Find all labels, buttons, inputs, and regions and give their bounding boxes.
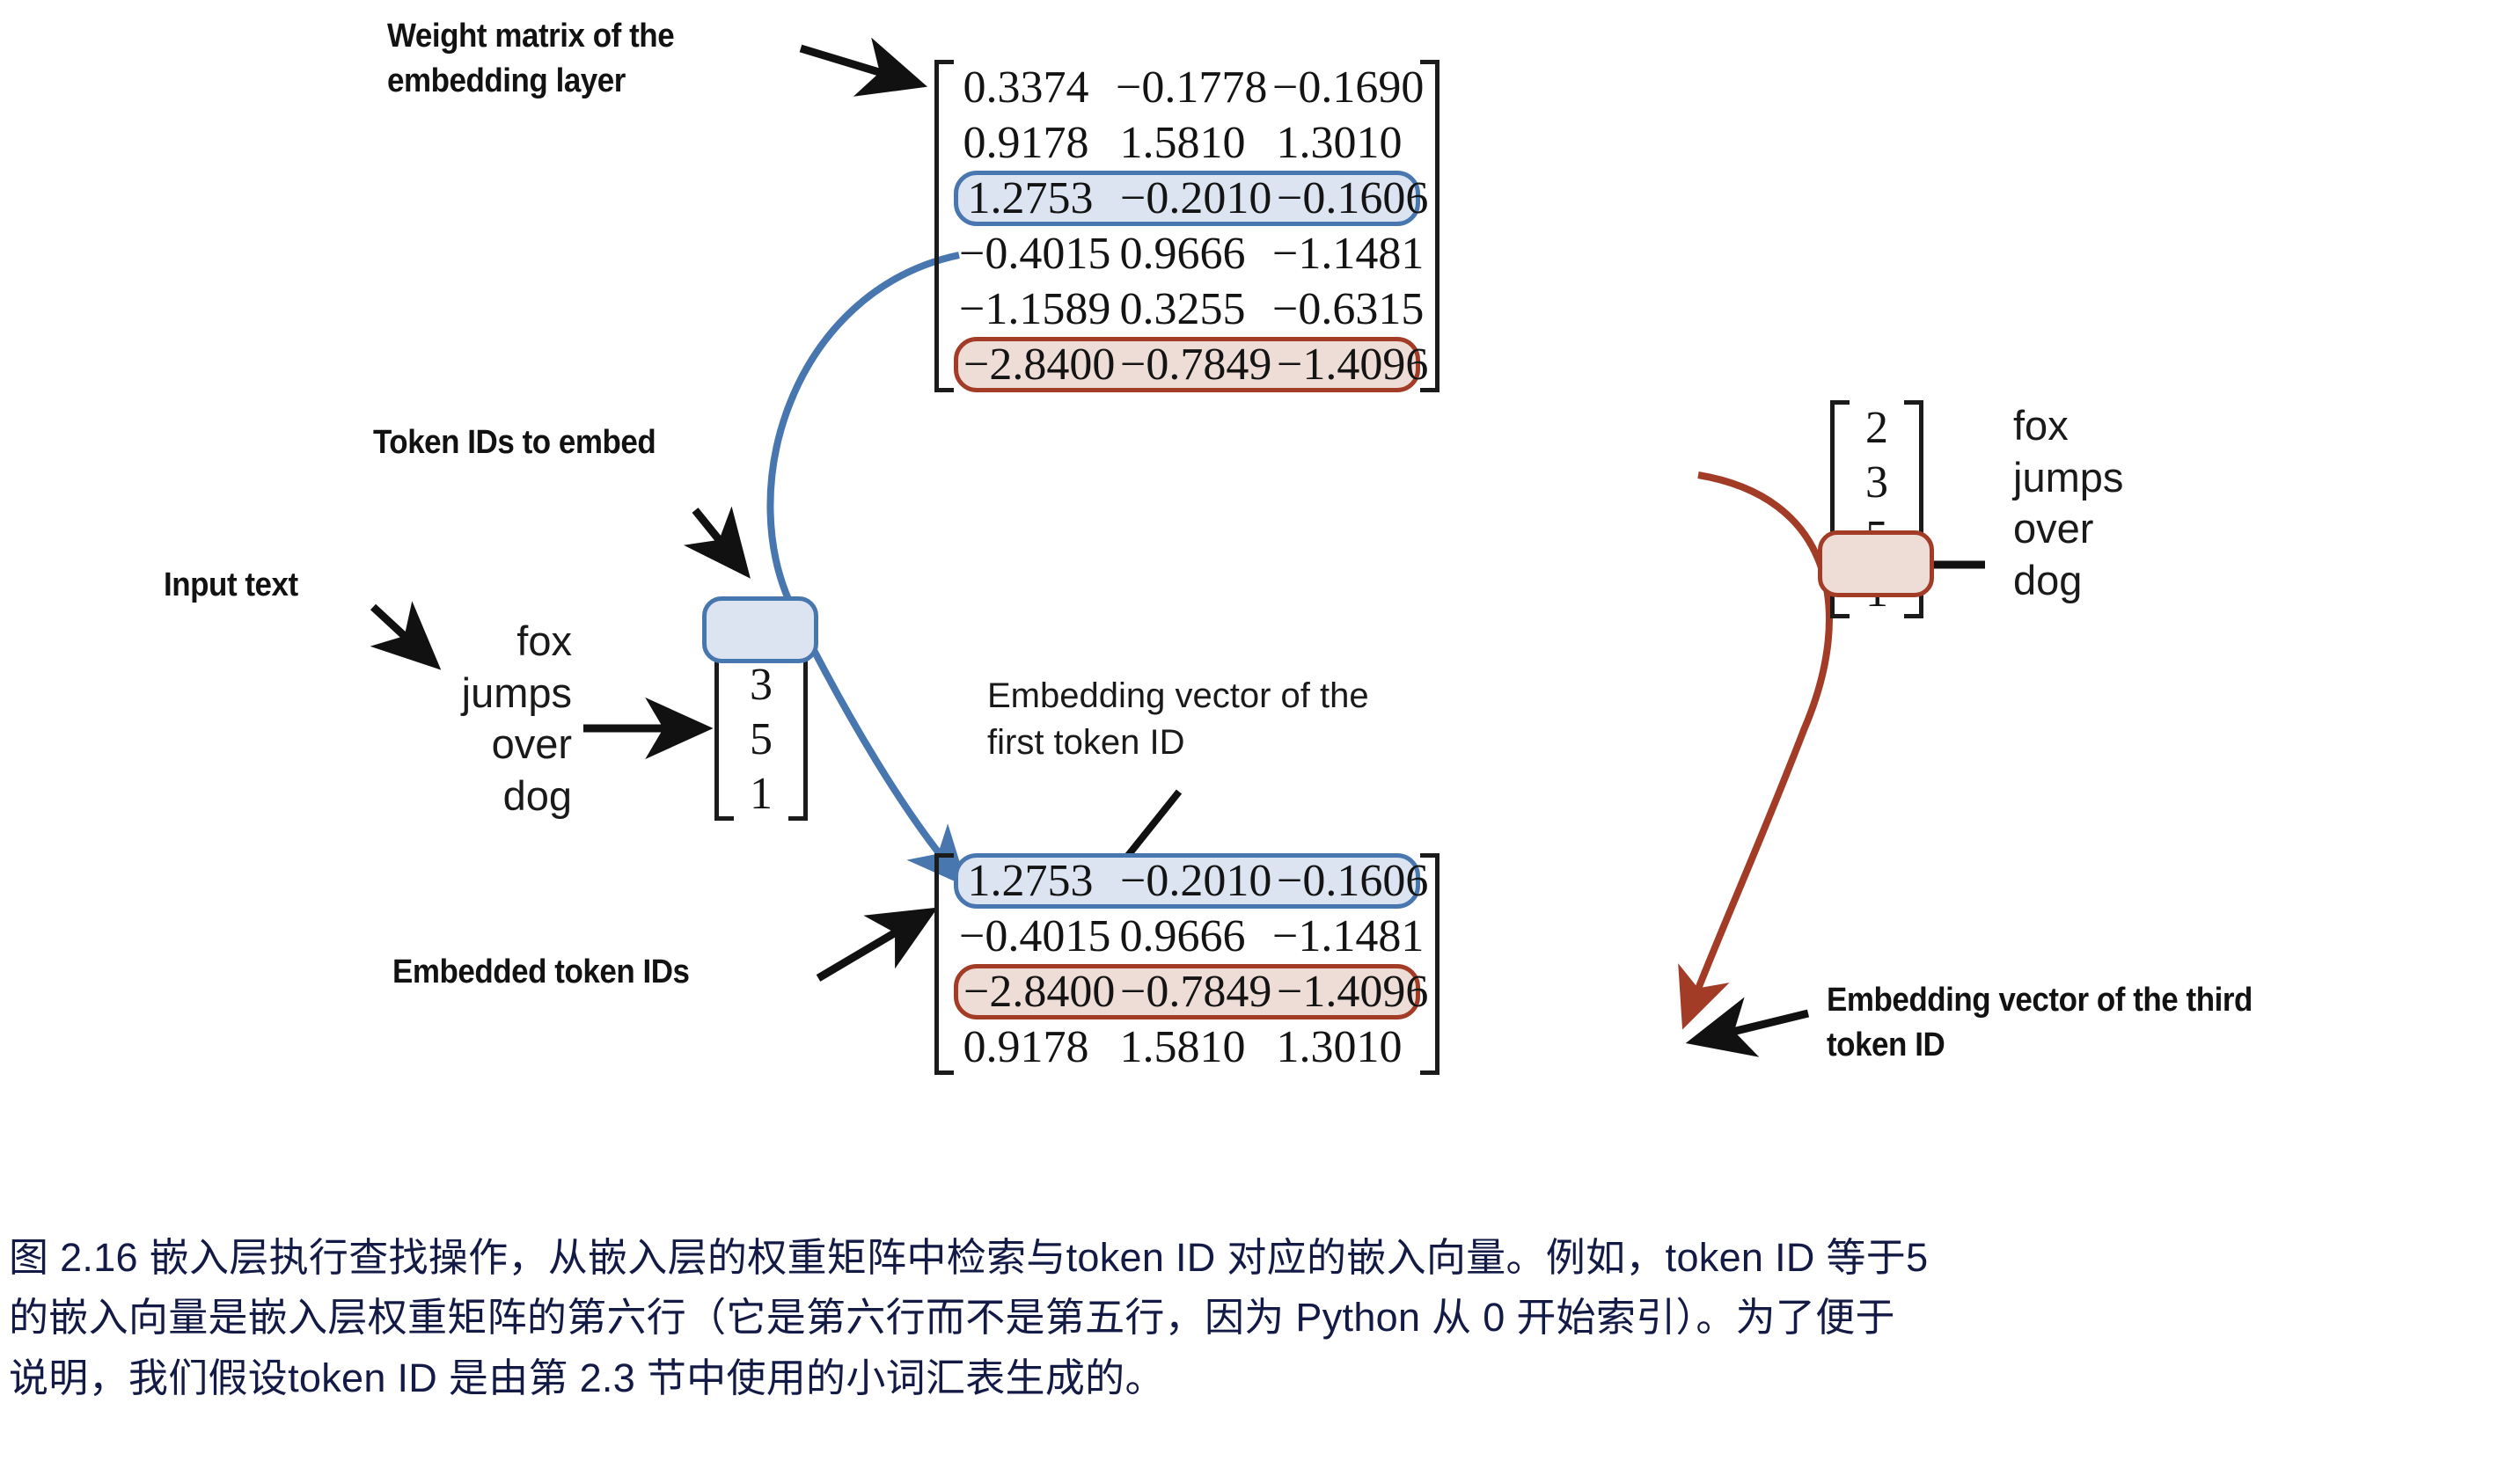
token-id-row: 5	[1850, 509, 1904, 564]
token-id-row: 2	[734, 603, 788, 657]
right-word: dog	[2013, 555, 2312, 607]
embedded-token-ids-matrix: 1.2753 −0.2010 −0.1606 −0.4015 0.9666 −1…	[934, 853, 1439, 1075]
caption-line-1: 图 2.16 嵌入层执行查找操作，从嵌入层的权重矩阵中检索与token ID 对…	[9, 1228, 2512, 1288]
token-id-row: 1	[1850, 564, 1904, 618]
right-words-column: fox jumps over dog	[2013, 400, 2312, 607]
input-word: dog	[290, 771, 572, 822]
matrix-row-highlighted-blue: 1.2753 −0.2010 −0.1606	[954, 171, 1420, 226]
weight-matrix: 0.3374 −0.1778 −0.1690 0.9178 1.5810 1.3…	[934, 60, 1439, 392]
caption-line-2: 的嵌入向量是嵌入层权重矩阵的第六行（它是第六行而不是第五行，因为 Python …	[9, 1288, 2512, 1348]
label-embedding-vector-first: Embedding vector of the first token ID	[987, 673, 1369, 766]
label-input-text: Input text	[164, 563, 298, 608]
label-embedded-token-ids: Embedded token IDs	[392, 950, 689, 995]
token-id-row: 1	[734, 766, 788, 821]
label-embedding-vector-third: Embedding vector of the third token ID	[1827, 978, 2253, 1069]
bracket-left	[934, 853, 954, 1075]
matrix-row: −1.1589 0.3255 −0.6315	[954, 281, 1420, 337]
label-token-ids-to-embed: Token IDs to embed	[373, 420, 656, 465]
matrix-row-highlighted-red: −2.8400 −0.7849 −1.4096	[954, 337, 1420, 392]
matrix-row: 0.9178 1.5810 1.3010	[954, 1019, 1420, 1075]
arrow-embedded-token-ids	[818, 913, 928, 978]
token-ids-left-matrix: 2 3 5 1	[714, 603, 808, 821]
input-words-column: fox jumps over dog	[290, 616, 572, 822]
bracket-right	[788, 603, 808, 821]
token-id-row: 3	[734, 657, 788, 712]
figure-caption: 图 2.16 嵌入层执行查找操作，从嵌入层的权重矩阵中检索与token ID 对…	[9, 1228, 2512, 1408]
matrix-row: −0.4015 0.9666 −1.1481	[954, 226, 1420, 281]
arrow-token-ids-to-embed	[695, 510, 744, 570]
matrix-row-highlighted-blue: 1.2753 −0.2010 −0.1606	[954, 853, 1420, 909]
bracket-left	[714, 603, 734, 821]
right-word: over	[2013, 503, 2312, 555]
token-ids-right-matrix: 2 3 5 1	[1830, 400, 1923, 618]
arrow-embedding-vector-third	[1696, 1013, 1808, 1041]
token-id-row: 2	[1850, 400, 1904, 455]
caption-line-3: 说明，我们假设token ID 是由第 2.3 节中使用的小词汇表生成的。	[9, 1348, 2512, 1408]
input-word: jumps	[290, 668, 572, 720]
token-id-row: 5	[734, 712, 788, 766]
matrix-row: 0.9178 1.5810 1.3010	[954, 115, 1420, 171]
bracket-left	[1830, 400, 1850, 618]
input-word: fox	[290, 616, 572, 668]
right-word: fox	[2013, 400, 2312, 452]
bracket-right	[1904, 400, 1923, 618]
arrow-weight-matrix	[801, 48, 917, 84]
input-word: over	[290, 719, 572, 771]
right-word: jumps	[2013, 452, 2312, 504]
matrix-row-highlighted-red: −2.8400 −0.7849 −1.4096	[954, 964, 1420, 1019]
matrix-row: −0.4015 0.9666 −1.1481	[954, 909, 1420, 964]
label-weight-matrix: Weight matrix of the embedding layer	[387, 14, 674, 105]
token-id-row: 3	[1850, 455, 1904, 509]
bracket-left	[934, 60, 954, 392]
red-lookup-curve	[1686, 475, 1829, 1020]
matrix-row: 0.3374 −0.1778 −0.1690	[954, 60, 1420, 115]
